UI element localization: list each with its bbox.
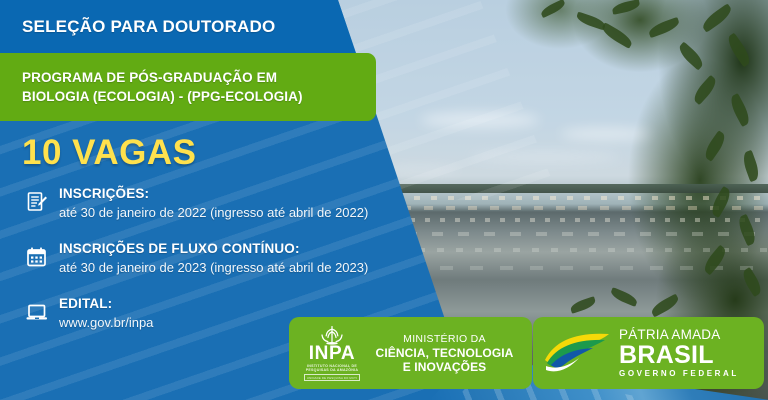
list-item-text: INSCRIÇÕES: até 30 de janeiro de 2022 (i… [54,185,368,222]
page-title: SELEÇÃO PARA DOUTORADO [0,17,275,37]
vacancies-headline: 10 VAGAS [22,133,197,173]
list-item-heading: EDITAL: [59,295,153,312]
list-item-text: INSCRIÇÕES DE FLUXO CONTÍNUO: até 30 de … [54,240,368,277]
inpa-logo: INPA INSTITUTO NACIONAL DE PESQUISAS DA … [289,325,367,382]
brasil-flag-swoosh-icon [543,330,613,376]
inpa-acronym: INPA [309,344,355,363]
inpa-doctorate-selection-banner: SELEÇÃO PARA DOUTORADO PROGRAMA DE PÓS-G… [0,0,768,400]
program-name-block: PROGRAMA DE PÓS-GRADUAÇÃO EM BIOLOGIA (E… [0,53,376,121]
list-item-detail: até 30 de janeiro de 2022 (ingresso até … [59,202,368,222]
inpa-water-lily-mark [315,325,349,345]
list-item: INSCRIÇÕES DE FLUXO CONTÍNUO: até 30 de … [20,240,450,277]
ministry-line-3: E INOVAÇÕES [367,360,522,374]
brasil-line-1: PÁTRIA AMADA [619,327,764,342]
brasil-line-2: BRASIL [619,342,764,368]
ministry-line-1: MINISTÉRIO DA [367,333,522,346]
edital-url[interactable]: www.gov.br/inpa [59,312,153,332]
brasil-wordmark: PÁTRIA AMADA BRASIL GOVERNO FEDERAL [613,327,764,379]
inpa-subtitle: INSTITUTO NACIONAL DE PESQUISAS DA AMAZÔ… [297,364,367,373]
list-item-detail: até 30 de janeiro de 2023 (ingresso até … [59,257,368,277]
inpa-ministry-logo-bar: INPA INSTITUTO NACIONAL DE PESQUISAS DA … [289,317,532,389]
list-item: INSCRIÇÕES: até 30 de janeiro de 2022 (i… [20,185,450,222]
program-line-1: PROGRAMA DE PÓS-GRADUAÇÃO EM [22,68,376,87]
document-pen-icon [20,186,54,220]
calendar-icon [20,241,54,275]
government-brasil-logo-bar: PÁTRIA AMADA BRASIL GOVERNO FEDERAL [533,317,764,389]
banner-header: SELEÇÃO PARA DOUTORADO [0,0,360,53]
laptop-icon [20,296,54,330]
ministry-name: MINISTÉRIO DA CIÊNCIA, TECNOLOGIA E INOV… [367,333,532,374]
inpa-tagline: UNIDADE DE PESQUISA DO MCTI [304,374,360,381]
list-item-text: EDITAL: www.gov.br/inpa [54,295,153,332]
list-item-heading: INSCRIÇÕES DE FLUXO CONTÍNUO: [59,240,368,257]
program-line-2: BIOLOGIA (ECOLOGIA) - (PPG-ECOLOGIA) [22,87,376,106]
cloud [560,128,650,140]
brasil-line-3: GOVERNO FEDERAL [619,368,764,379]
list-item-heading: INSCRIÇÕES: [59,185,368,202]
ministry-line-2: CIÊNCIA, TECNOLOGIA [367,346,522,360]
